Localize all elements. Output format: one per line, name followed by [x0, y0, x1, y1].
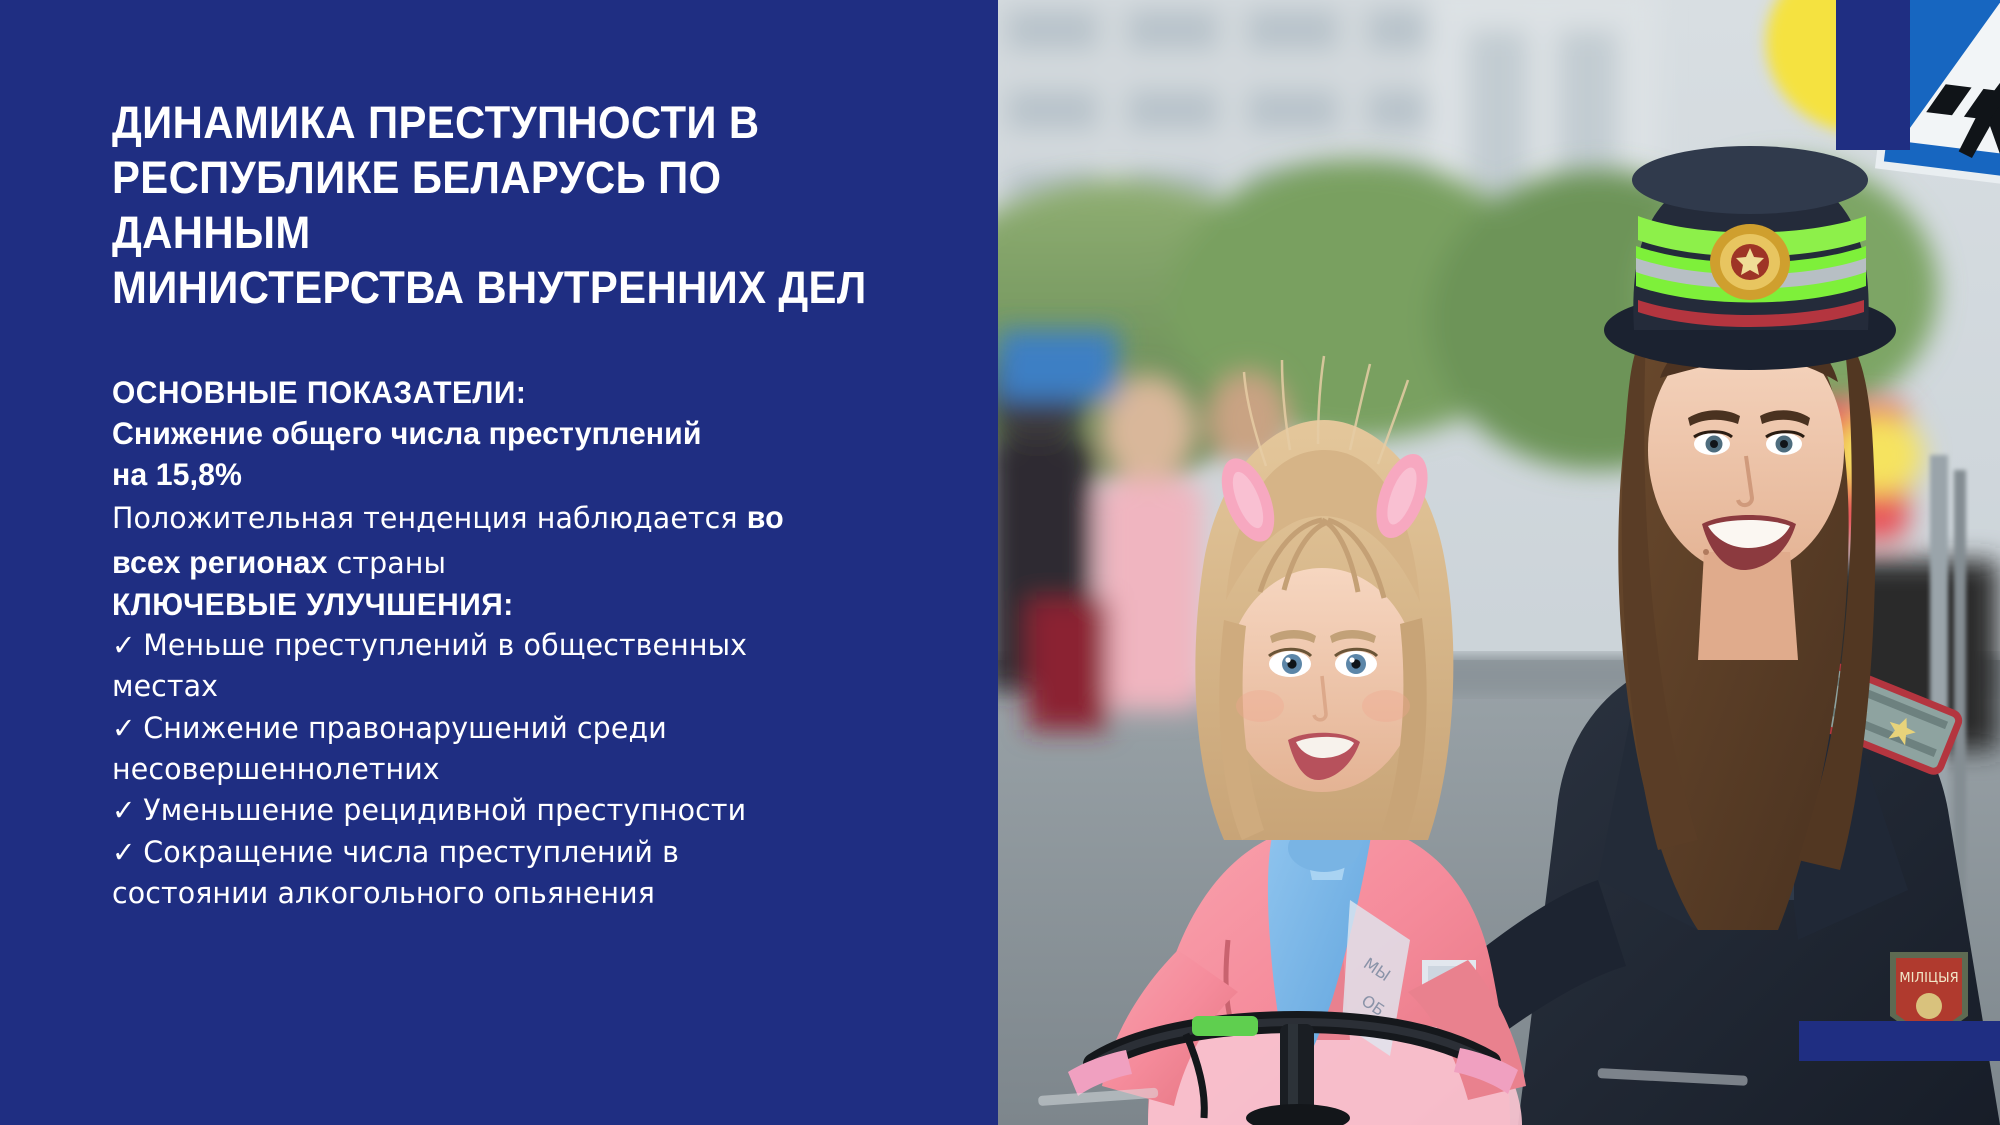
- check-icon: ✓: [112, 835, 143, 869]
- stat-total-crime-line2: на 15,8%: [112, 454, 909, 495]
- section-heading-indicators: ОСНОВНЫЕ ПОКАЗАТЕЛИ:: [112, 372, 901, 413]
- check-icon: ✓: [112, 628, 143, 662]
- text-block: ДИНАМИКА ПРЕСТУПНОСТИ В РЕСПУБЛИКЕ БЕЛАР…: [112, 96, 942, 914]
- list-item-label-cont: состоянии алкогольного опьянения: [112, 876, 655, 910]
- trend-suffix-text: страны: [328, 546, 447, 580]
- page-title: ДИНАМИКА ПРЕСТУПНОСТИ В РЕСПУБЛИКЕ БЕЛАР…: [112, 96, 884, 316]
- list-item-label: Меньше преступлений в общественных: [143, 628, 747, 662]
- list-item-wrap: местах: [112, 666, 913, 707]
- list-item: ✓Меньше преступлений в общественных: [112, 625, 913, 666]
- photo-image: МІЛІЦЫЯ: [998, 0, 2000, 1125]
- check-icon: ✓: [112, 793, 143, 827]
- list-item: ✓Снижение правонарушений среди: [112, 708, 913, 749]
- content-panel: ДИНАМИКА ПРЕСТУПНОСТИ В РЕСПУБЛИКЕ БЕЛАР…: [0, 0, 998, 1125]
- list-item-label: Уменьшение рецидивной преступности: [143, 793, 746, 827]
- list-item-wrap: несовершеннолетних: [112, 749, 913, 790]
- check-icon: ✓: [112, 711, 143, 745]
- trend-sentence-line1: Положительная тенденция наблюдается во: [112, 495, 913, 539]
- body-block: ОСНОВНЫЕ ПОКАЗАТЕЛИ: Снижение общего чис…: [112, 372, 942, 915]
- list-item: ✓Уменьшение рецидивной преступности: [112, 790, 913, 831]
- trend-bold-second: всех регионах: [112, 544, 328, 580]
- svg-text:МІЛІЦЫЯ: МІЛІЦЫЯ: [1899, 971, 1958, 986]
- list-item-label-cont: местах: [112, 669, 218, 703]
- decorative-bar-bottom-right: [1799, 1021, 2000, 1061]
- section-heading-improvements: КЛЮЧЕВЫЕ УЛУЧШЕНИЯ:: [112, 584, 901, 625]
- list-item-wrap: состоянии алкогольного опьянения: [112, 873, 913, 914]
- slide-root: МІЛІЦЫЯ: [0, 0, 2000, 1125]
- photo-illustration: МІЛІЦЫЯ: [998, 0, 2000, 1125]
- list-item-label: Снижение правонарушений среди: [143, 711, 667, 745]
- trend-bold-first: во: [747, 499, 784, 535]
- stat-total-crime-line1: Снижение общего числа преступлений: [112, 413, 909, 454]
- list-item-label-cont: несовершеннолетних: [112, 752, 440, 786]
- trend-prefix-text: Положительная тенденция наблюдается: [112, 501, 747, 535]
- decorative-bar-top-right: [1836, 0, 1910, 150]
- list-item-label: Сокращение числа преступлений в: [143, 835, 679, 869]
- list-item: ✓Сокращение числа преступлений в: [112, 832, 913, 873]
- trend-sentence-line2: всех регионах страны: [112, 540, 913, 584]
